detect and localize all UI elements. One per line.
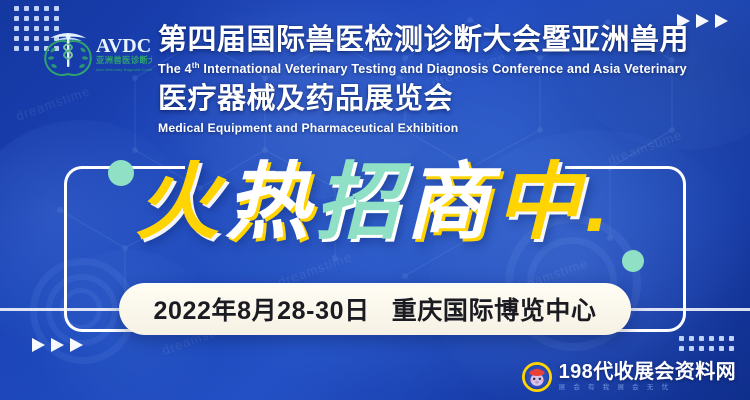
- watermark-text: 198代收展会资料网 展 会 有 我 展 会 无 忧: [559, 362, 736, 392]
- event-banner: dreamstime dreamstime dreamstime dreamst…: [0, 0, 750, 400]
- title-en-line1: The 4th International Veterinary Testing…: [158, 62, 689, 76]
- logo-cn-name: 亚洲兽医诊断大会: [96, 55, 152, 65]
- mascot-icon: [522, 362, 552, 392]
- triangle-right-icon: [32, 338, 45, 352]
- slogan-char-1: 火: [135, 160, 225, 244]
- watermark-subtitle: 展 会 有 我 展 会 无 忧: [559, 385, 736, 392]
- title-block: 第四届国际兽医检测诊断大会暨亚洲兽用 The 4th International…: [158, 26, 689, 134]
- details-pill: 2022年8月28-30日 重庆国际博览中心: [119, 283, 630, 335]
- triangle-right-icon: [70, 338, 83, 352]
- event-venue: 重庆国际博览中心: [392, 291, 597, 327]
- accent-dot-right: [622, 250, 644, 272]
- slogan-char-3: 招: [315, 160, 405, 244]
- title-en-ordinal: th: [192, 61, 200, 70]
- slogan-char-4: 商: [405, 160, 495, 244]
- title-cn-line2: 医疗器械及药品展览会: [158, 85, 689, 114]
- title-en-line1-pre: The 4: [158, 62, 192, 76]
- title-cn-line1: 第四届国际兽医检测诊断大会暨亚洲兽用: [158, 26, 689, 55]
- title-en-line2: Medical Equipment and Pharmaceutical Exh…: [158, 122, 689, 134]
- site-watermark: 198代收展会资料网 展 会 有 我 展 会 无 忧: [522, 362, 736, 392]
- slogan-period: .: [585, 155, 614, 249]
- slogan-char-2: 热: [225, 160, 315, 244]
- logo-acronym: AVDC: [96, 35, 151, 57]
- arrow-motif-bottom-left: [32, 338, 83, 352]
- caduceus-wreath-icon: AVDC 亚洲兽医诊断大会 Asia Veterinary Diagnosis …: [44, 26, 152, 78]
- slogan: 火热招商中.: [0, 160, 750, 244]
- event-date: 2022年8月28-30日: [153, 291, 369, 327]
- banner-header: AVDC 亚洲兽医诊断大会 Asia Veterinary Diagnosis …: [0, 26, 750, 134]
- dot-grid-bottom-right: [679, 336, 734, 351]
- avdc-logo: AVDC 亚洲兽医诊断大会 Asia Veterinary Diagnosis …: [44, 26, 152, 78]
- details-bar: 2022年8月28-30日 重庆国际博览中心: [0, 283, 750, 335]
- watermark-title: 198代收展会资料网: [559, 362, 736, 382]
- title-en-line1-post: International Veterinary Testing and Dia…: [200, 62, 687, 76]
- slogan-char-5: 中: [495, 160, 585, 244]
- triangle-right-icon: [51, 338, 64, 352]
- logo-en-name: Asia Veterinary Diagnosis Conference: [96, 68, 152, 72]
